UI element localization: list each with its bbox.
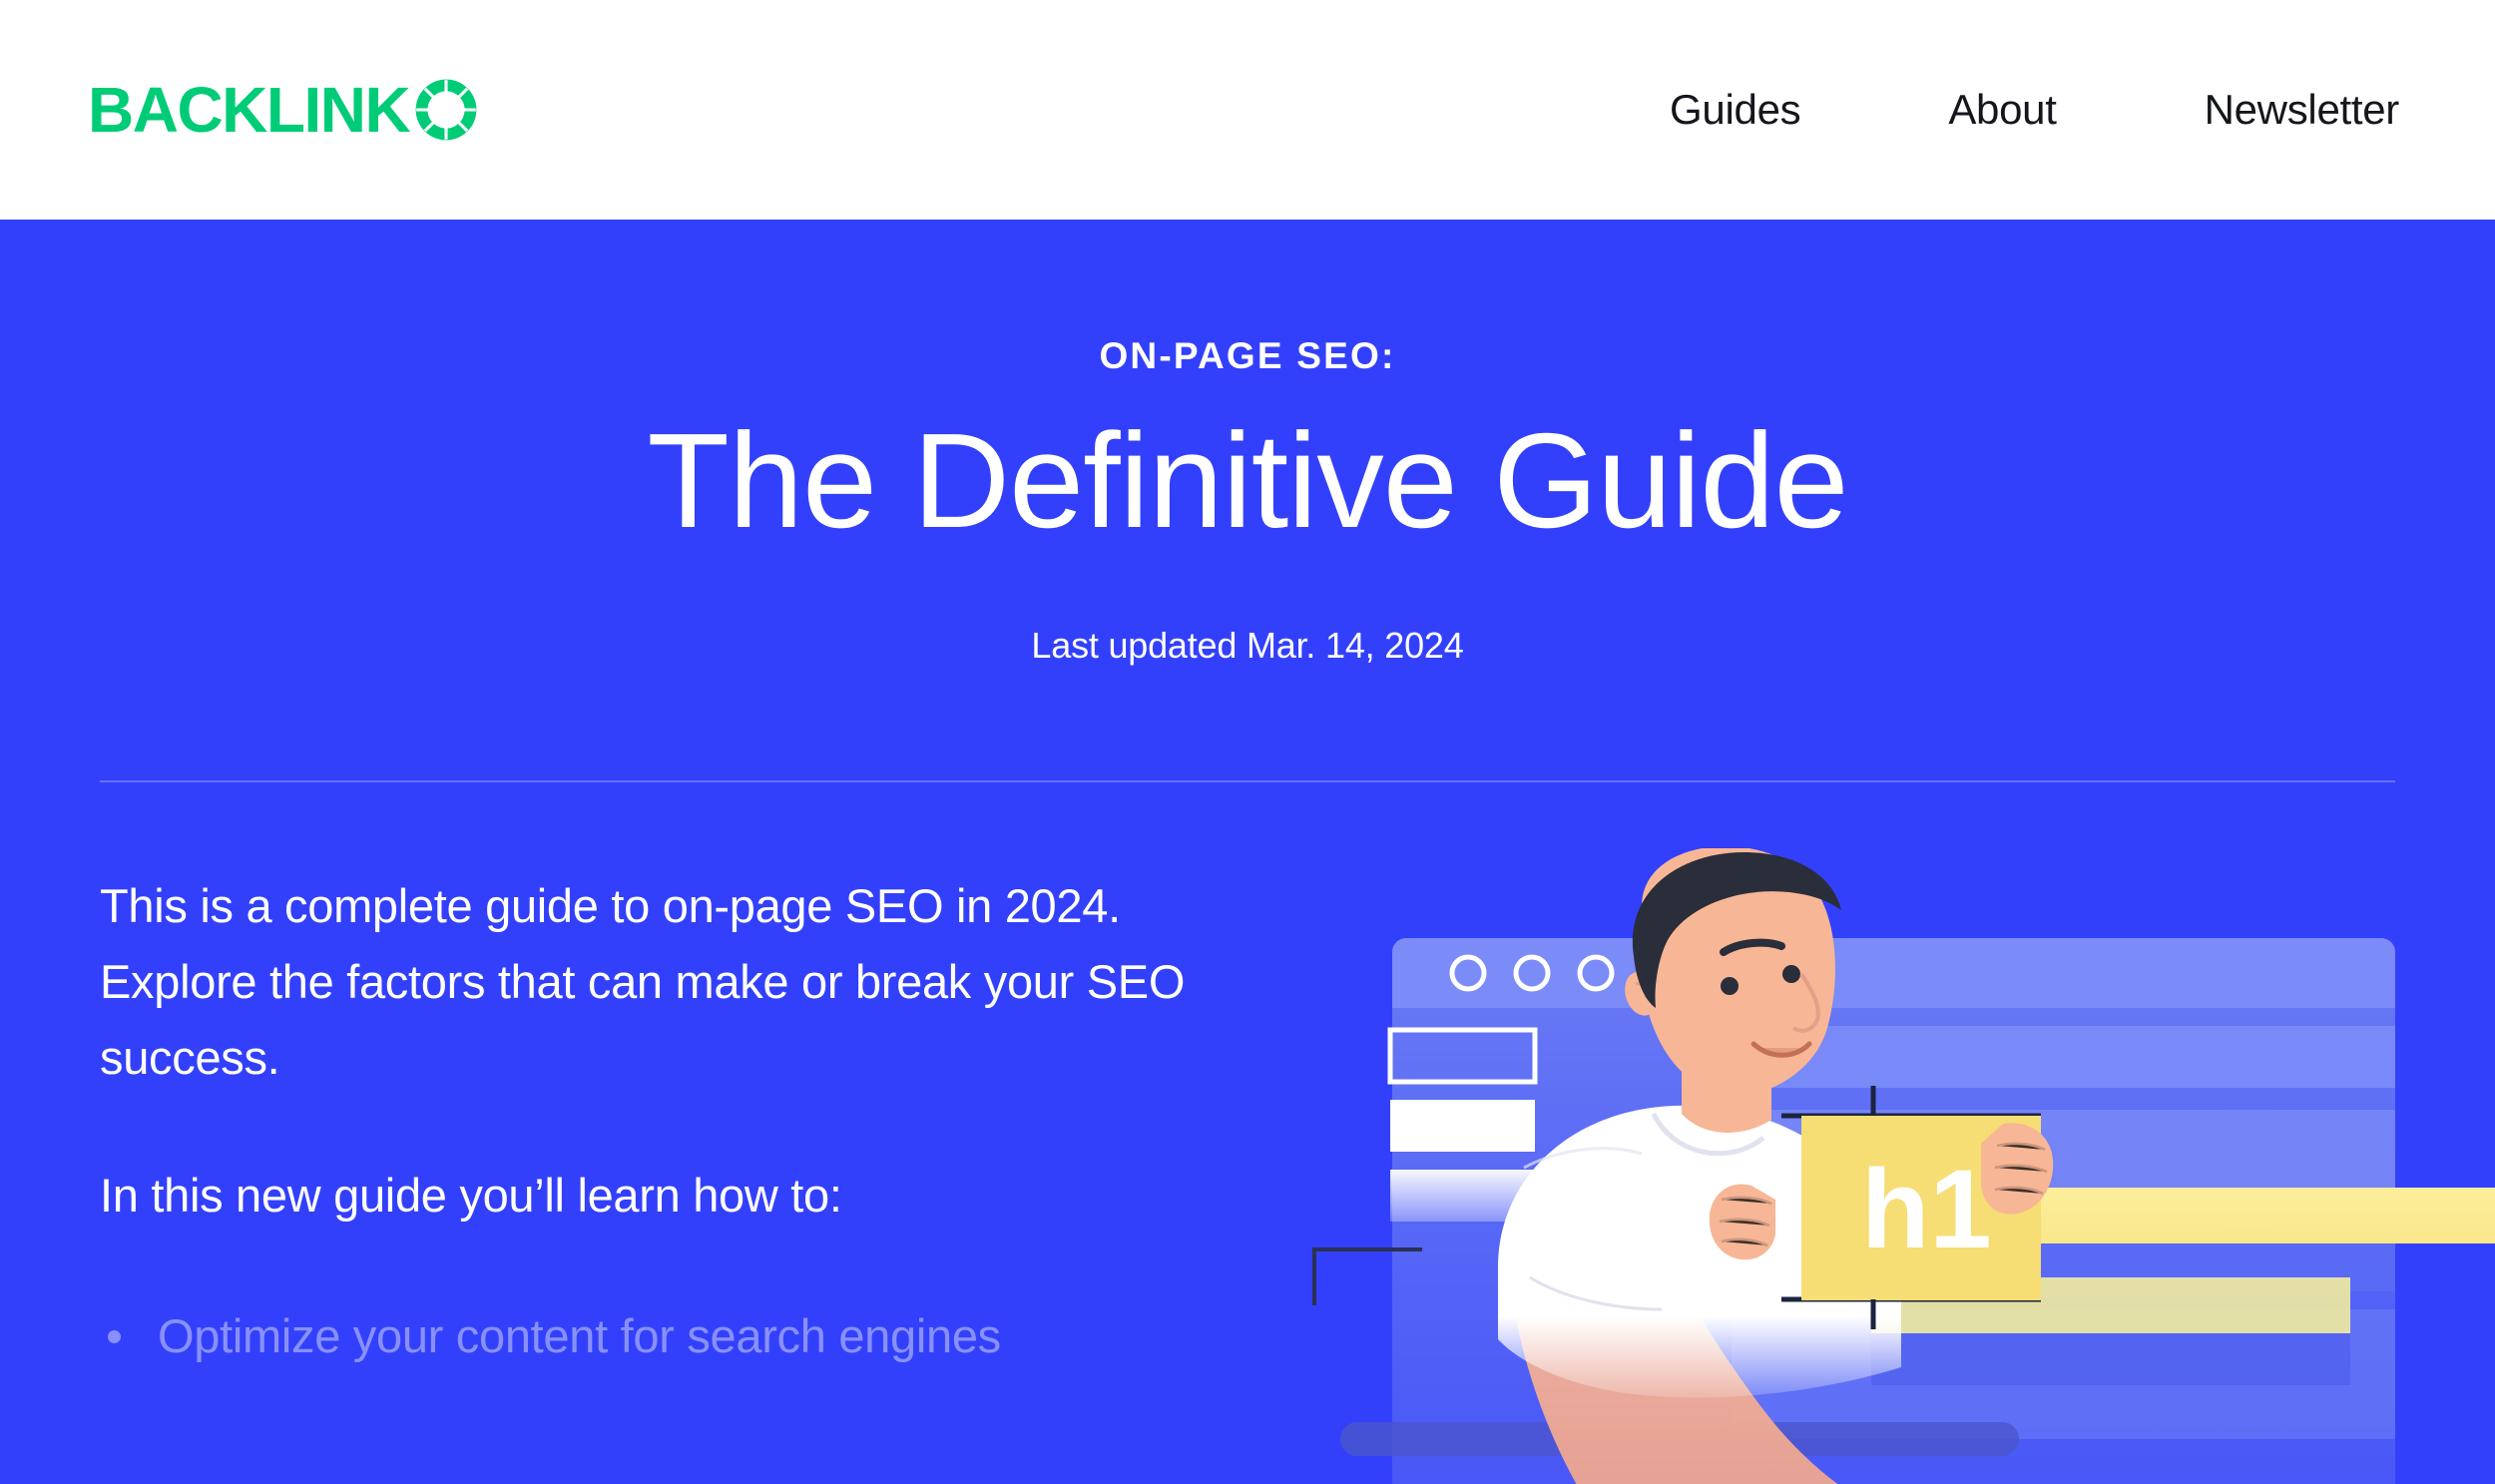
- page-root: BACKLINK: [0, 0, 2495, 1484]
- logo[interactable]: BACKLINK: [88, 78, 477, 142]
- logo-text: BACKLINK: [88, 78, 409, 142]
- intro-paragraph-2: In this new guide you’ll learn how to:: [100, 1158, 1228, 1234]
- nav-item-about[interactable]: About: [1948, 86, 2056, 134]
- divider: [100, 780, 2395, 782]
- page-title: The Definitive Guide: [0, 399, 2495, 564]
- intro-copy: This is a complete guide to on-page SEO …: [100, 868, 1228, 1374]
- list-item: Optimize your content for search engines: [100, 1298, 1228, 1374]
- learn-list: Optimize your content for search engines: [100, 1298, 1228, 1374]
- person-holding-h1-card-illustration: h1: [1262, 848, 2495, 1484]
- intro-paragraph-1: This is a complete guide to on-page SEO …: [100, 868, 1228, 1096]
- hero-section: ON-PAGE SEO: The Definitive Guide Last u…: [0, 220, 2495, 1484]
- eyebrow-label: ON-PAGE SEO:: [0, 335, 2495, 377]
- main-nav: Guides About Newsletter: [1670, 86, 2399, 134]
- nav-item-guides[interactable]: Guides: [1670, 86, 1800, 134]
- card-label: h1: [1861, 1147, 1992, 1271]
- last-updated-text: Last updated Mar. 14, 2024: [0, 625, 2495, 667]
- site-header: BACKLINK: [0, 0, 2495, 220]
- nav-item-newsletter[interactable]: Newsletter: [2205, 86, 2399, 134]
- segmented-ring-icon: [415, 79, 477, 141]
